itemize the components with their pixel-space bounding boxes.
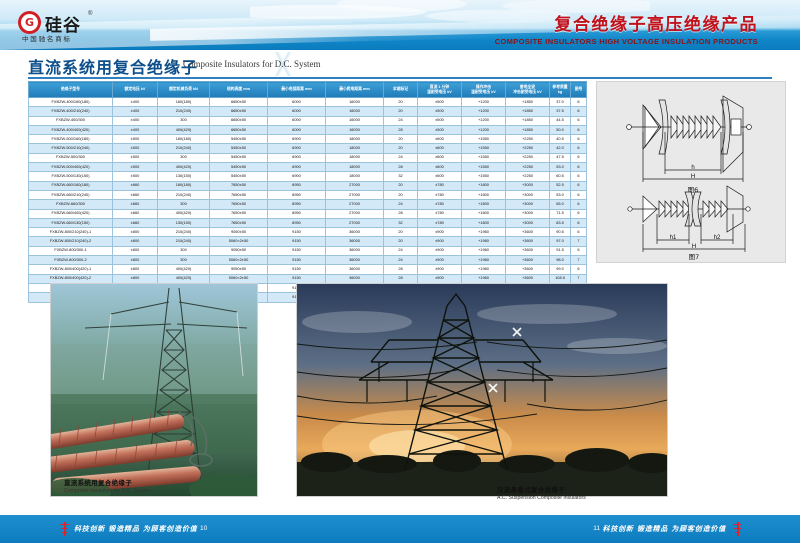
spec-table-wrapper: 绝缘子型号额定电压 kV额定机械负荷 kN结构高度 mm最小电弧距离 mm最小爬… <box>28 81 586 303</box>
cell-value: +1200 <box>462 98 506 107</box>
table-row: FXBZW-500/130(150)±500130(150)5450±50690… <box>29 172 587 181</box>
cell-value: 6650±50 <box>210 107 268 116</box>
cell-value: 6 <box>571 181 587 190</box>
cell-value: 300 <box>158 256 210 265</box>
photo-dc-caption: 直流系统用复合绝缘子 Composite Insulators for D.C.… <box>64 477 151 494</box>
fig7-dim-h1: h1 <box>670 235 677 241</box>
cell-value: 300 <box>158 200 210 209</box>
cell-value: +1550 <box>462 172 506 181</box>
cell-value: +3000 <box>506 218 550 227</box>
cell-value: 7 <box>571 237 587 246</box>
cell-value: 6 <box>571 135 587 144</box>
fig6-dim-H: H <box>691 174 695 180</box>
cell-value: ±660 <box>113 218 158 227</box>
cell-value: 32 <box>384 172 418 181</box>
cell-value: 210(240) <box>158 107 210 116</box>
table-row: FXBZW-660/130(150)±660130(150)7650±50895… <box>29 218 587 227</box>
cell-value: 6 <box>571 228 587 237</box>
spec-table-header-cell-9: 雷电全波冲击耐受电压 kV <box>506 82 550 98</box>
catalog-page: G 硅谷 ® 中国驰名商标 复合绝缘子高压绝缘产品 COMPOSITE INSU… <box>0 0 800 543</box>
cell-value: 400(420) <box>158 265 210 274</box>
cell-value: 8950 <box>268 218 326 227</box>
cell-value: +1550 <box>462 144 506 153</box>
spec-table-header-cell-5: 最小爬电距离 mm <box>326 82 384 98</box>
cell-value: 7650±50 <box>210 218 268 227</box>
cell-value: 6900 <box>268 135 326 144</box>
logo-emblem-icon: G <box>18 11 41 34</box>
cell-value: 16000 <box>326 98 384 107</box>
cell-value: 44.5 <box>550 116 571 125</box>
spec-table-head: 绝缘子型号额定电压 kV额定机械负荷 kN结构高度 mm最小电弧距离 mm最小爬… <box>29 82 587 98</box>
cell-value: 210(240) <box>158 237 210 246</box>
cell-value: 36000 <box>326 246 384 255</box>
cell-value: 20 <box>384 135 418 144</box>
cell-value: 8950 <box>268 200 326 209</box>
cell-value: 16000 <box>326 116 384 125</box>
cell-value: 300 <box>158 153 210 162</box>
banner-title-en: COMPOSITE INSULATORS HIGH VOLTAGE INSULA… <box>495 37 758 46</box>
table-row: FXBZW-500/160(180)±500160(180)5450±50690… <box>29 135 587 144</box>
cell-model: FXBZW-800/210(240)-1 <box>29 228 113 237</box>
cell-value: 20 <box>384 107 418 116</box>
cell-model: FXBZW-800/210(240)-2 <box>29 237 113 246</box>
cell-value: +1960 <box>462 246 506 255</box>
cell-value: +3600 <box>506 237 550 246</box>
cell-model: FXBZW-400/210(240) <box>29 107 113 116</box>
cell-value: 300 <box>158 116 210 125</box>
fig7-dim-h2: h2 <box>714 235 721 241</box>
photo-ac-svg <box>297 284 667 496</box>
cell-value: +2250 <box>506 163 550 172</box>
table-row: FXBZW-660/400(420)±660400(420)7650±50895… <box>29 209 587 218</box>
cell-value: ±900 <box>418 256 462 265</box>
cell-value: 32 <box>384 218 418 227</box>
cell-value: 9150 <box>268 237 326 246</box>
cell-value: 6 <box>571 209 587 218</box>
cell-value: +2250 <box>506 172 550 181</box>
cell-value: 83.5 <box>550 218 571 227</box>
cell-value: ±900 <box>418 265 462 274</box>
cell-model: FXBZW-660/210(240) <box>29 190 113 199</box>
spec-table: 绝缘子型号额定电压 kV额定机械负荷 kN结构高度 mm最小电弧距离 mm最小爬… <box>28 81 587 303</box>
cell-value: 5060×2±50 <box>210 256 268 265</box>
cell-value: +1200 <box>462 125 506 134</box>
cell-value: 8950 <box>268 209 326 218</box>
cell-model: FXBZW-660/130(150) <box>29 218 113 227</box>
cell-value: +1960 <box>462 256 506 265</box>
cell-value: 6 <box>571 265 587 274</box>
cell-value: 52.5 <box>550 181 571 190</box>
table-row: FXBZW-800/210(240)-2±800210(240)5060×2±5… <box>29 237 587 246</box>
cell-value: 5450±50 <box>210 135 268 144</box>
cell-value: 36000 <box>326 228 384 237</box>
cell-value: 6 <box>571 125 587 134</box>
logo-registered-mark: ® <box>88 11 92 17</box>
footer-page-right: 11 <box>593 525 600 532</box>
cell-value: 6000 <box>268 125 326 134</box>
cell-value: ±800 <box>113 246 158 255</box>
photo-dc-caption-cn: 直流系统用复合绝缘子 <box>64 477 151 487</box>
logo-tagline: 中国驰名商标 <box>22 33 72 43</box>
cell-value: +1800 <box>462 209 506 218</box>
cell-value: +1960 <box>462 237 506 246</box>
fig7-drawing <box>628 186 750 252</box>
cell-value: ±400 <box>113 107 158 116</box>
section-divider <box>28 77 772 79</box>
cell-model: FXBZW-500/130(150) <box>29 172 113 181</box>
photo-ac-caption-en: A.C. Suspension Composite Insulators <box>497 495 586 501</box>
cell-value: 28 <box>384 209 418 218</box>
cell-value: 6 <box>571 163 587 172</box>
cell-value: 90.5 <box>550 228 571 237</box>
spec-table-header-cell-1: 额定电压 kV <box>113 82 158 98</box>
cell-value: ±500 <box>113 172 158 181</box>
cell-value: 6 <box>571 172 587 181</box>
cell-value: 6 <box>571 98 587 107</box>
footer-slogan-right: 科技创新 锻造精品 为顾客创造价值 <box>603 524 726 534</box>
cell-value: ±660 <box>113 209 158 218</box>
cell-value: 160(180) <box>158 181 210 190</box>
cell-value: +1200 <box>462 116 506 125</box>
cell-value: ±660 <box>113 181 158 190</box>
cell-value: ±500 <box>113 135 158 144</box>
cell-value: 6650±50 <box>210 98 268 107</box>
table-row: FXBZW-500/400(420)±500400(420)5450±50690… <box>29 163 587 172</box>
fig7-dim-H: H <box>692 244 696 250</box>
cell-value: +3600 <box>506 246 550 255</box>
cell-value: +1850 <box>506 98 550 107</box>
cell-value: 6 <box>571 246 587 255</box>
cell-value: +1800 <box>462 200 506 209</box>
cell-value: ±400 <box>113 116 158 125</box>
cell-value: +1960 <box>462 265 506 274</box>
section-title-en: Composite Insulators for D.C. System <box>183 59 321 69</box>
cell-value: 28 <box>384 265 418 274</box>
spec-table-header-cell-0: 绝缘子型号 <box>29 82 113 98</box>
banner-title-cn: 复合绝缘子高压绝缘产品 <box>495 10 758 35</box>
cell-value: 6650±50 <box>210 125 268 134</box>
cell-value: 130(150) <box>158 218 210 227</box>
cell-model: FXBZW-400/400(420) <box>29 125 113 134</box>
cell-model: FXBZW-800/300-1 <box>29 246 113 255</box>
cell-value: 7650±50 <box>210 200 268 209</box>
table-row: FXBZW-800/210(240)-1±800210(240)9050±509… <box>29 228 587 237</box>
cell-value: ±500 <box>418 125 462 134</box>
cell-value: ±800 <box>113 265 158 274</box>
cell-value: 28 <box>384 163 418 172</box>
insulator-drawings-svg: h H 图6 <box>597 82 785 262</box>
cell-value: ±500 <box>418 116 462 125</box>
cell-model: FXBZW-500/160(180) <box>29 135 113 144</box>
cell-value: ±800 <box>113 256 158 265</box>
cell-value: 27000 <box>326 181 384 190</box>
cell-value: 9050±50 <box>210 228 268 237</box>
photo-dc-svg <box>51 284 257 496</box>
cell-value: +3600 <box>506 228 550 237</box>
cell-value: +1550 <box>462 135 506 144</box>
cell-value: 16000 <box>326 107 384 116</box>
table-row: FXBZW-400/210(240)±400210(240)6650±50600… <box>29 107 587 116</box>
cell-model: FXBZW-660/160(180) <box>29 181 113 190</box>
cell-value: +2250 <box>506 135 550 144</box>
company-logo: G 硅谷 ® 中国驰名商标 <box>18 9 118 43</box>
cell-value: ±900 <box>418 237 462 246</box>
cell-value: 36000 <box>326 265 384 274</box>
cell-value: 37.0 <box>550 98 571 107</box>
cell-value: 27000 <box>326 200 384 209</box>
spec-table-header-cell-4: 最小电弧距离 mm <box>268 82 326 98</box>
table-row: FXBZW-660/160(180)±660160(180)7650±50895… <box>29 181 587 190</box>
cell-value: 7650±50 <box>210 209 268 218</box>
table-row: FXBZW-660/300±6603007650±5089502700024±7… <box>29 200 587 209</box>
footer-mark-left-icon <box>60 522 69 536</box>
page-header-banner: G 硅谷 ® 中国驰名商标 复合绝缘子高压绝缘产品 COMPOSITE INSU… <box>0 0 800 50</box>
cell-value: 210(240) <box>158 190 210 199</box>
cell-value: 20 <box>384 190 418 199</box>
cell-value: 9050±50 <box>210 246 268 255</box>
cell-value: 6 <box>571 116 587 125</box>
cell-value: 18000 <box>326 135 384 144</box>
spec-table-header-cell-6: 伞裙标记 <box>384 82 418 98</box>
cell-value: 210(240) <box>158 144 210 153</box>
spec-table-header-cell-2: 额定机械负荷 kN <box>158 82 210 98</box>
cell-value: 6650±50 <box>210 116 268 125</box>
cell-value: 6 <box>571 218 587 227</box>
cell-value: +3600 <box>506 265 550 274</box>
cell-value: 7650±50 <box>210 181 268 190</box>
spec-table-header-cell-10: 参考质量kg <box>550 82 571 98</box>
cell-value: 24 <box>384 256 418 265</box>
cell-value: 6900 <box>268 144 326 153</box>
cell-value: ±500 <box>113 163 158 172</box>
cell-model: FXBZW-660/400(420) <box>29 209 113 218</box>
spec-table-header-cell-3: 结构高度 mm <box>210 82 268 98</box>
cell-value: +1800 <box>462 181 506 190</box>
spec-table-header-cell-11: 图号 <box>571 82 587 98</box>
logo-letter: G <box>24 16 36 29</box>
cell-value: 16000 <box>326 125 384 134</box>
cell-value: 50.0 <box>550 125 571 134</box>
cell-value: 40.5 <box>550 135 571 144</box>
photo-ac-suspension <box>296 283 668 497</box>
banner-title-block: 复合绝缘子高压绝缘产品 COMPOSITE INSULATORS HIGH VO… <box>495 10 758 46</box>
cell-value: ±660 <box>113 190 158 199</box>
cell-model: FXBZW-400/300 <box>29 116 113 125</box>
cell-value: ±400 <box>113 125 158 134</box>
cell-value: ±500 <box>113 144 158 153</box>
cell-value: 18000 <box>326 153 384 162</box>
cell-value: 27000 <box>326 218 384 227</box>
cell-value: 24 <box>384 153 418 162</box>
cell-model: FXBZW-400/160(180) <box>29 98 113 107</box>
cell-value: 47.5 <box>550 153 571 162</box>
page-footer: 科技创新 锻造精品 为顾客创造价值 10 11 科技创新 锻造精品 为顾客创造价… <box>0 515 800 543</box>
cell-value: 400(420) <box>158 163 210 172</box>
cell-value: ±500 <box>418 107 462 116</box>
cell-value: 99.0 <box>550 265 571 274</box>
cell-value: 6000 <box>268 116 326 125</box>
cell-value: ±400 <box>113 98 158 107</box>
table-row: FXBZW-500/210(240)±500210(240)5450±50690… <box>29 144 587 153</box>
cell-value: 20 <box>384 144 418 153</box>
cell-value: +1800 <box>462 218 506 227</box>
fig6-drawing <box>627 96 752 182</box>
table-row: FXBZW-660/210(240)±660210(240)7650±50895… <box>29 190 587 199</box>
cell-value: +3600 <box>506 256 550 265</box>
fig7-caption: 图7 <box>689 253 700 261</box>
cell-value: 37.5 <box>550 107 571 116</box>
cell-value: 160(180) <box>158 98 210 107</box>
footer-page-left: 10 <box>200 525 207 532</box>
table-row: FXBZW-500/300±5003005450±5069001800024±6… <box>29 153 587 162</box>
cell-value: 71.5 <box>550 209 571 218</box>
table-row: FXBZW-800/400(420)-1±800400(420)9050±509… <box>29 265 587 274</box>
cell-value: +3000 <box>506 200 550 209</box>
cell-value: +1550 <box>462 153 506 162</box>
cell-value: +1200 <box>462 107 506 116</box>
cell-value: 6000 <box>268 107 326 116</box>
cell-value: 9150 <box>268 246 326 255</box>
cell-value: +1550 <box>462 163 506 172</box>
cell-value: 210(240) <box>158 228 210 237</box>
cell-value: +1850 <box>506 107 550 116</box>
cell-value: 9150 <box>268 265 326 274</box>
cell-value: 20 <box>384 228 418 237</box>
cell-value: ±600 <box>418 144 462 153</box>
cell-model: FXBZW-500/400(420) <box>29 163 113 172</box>
fig6-dim-h: h <box>691 165 694 171</box>
cell-value: ±500 <box>113 153 158 162</box>
cell-model: FXBZW-800/300-2 <box>29 256 113 265</box>
table-row: FXBZW-800/300-1±8003009050±5091503600024… <box>29 246 587 255</box>
cell-value: 5450±50 <box>210 144 268 153</box>
table-row: FXBZW-400/160(180)±400160(180)6650±50600… <box>29 98 587 107</box>
cell-value: 9150 <box>268 228 326 237</box>
cell-value: ±600 <box>418 172 462 181</box>
cell-value: 8950 <box>268 181 326 190</box>
cell-value: ±780 <box>418 181 462 190</box>
cell-value: 65.0 <box>550 200 571 209</box>
cell-value: 36000 <box>326 256 384 265</box>
cell-value: 60.5 <box>550 172 571 181</box>
cell-value: 130(150) <box>158 172 210 181</box>
photo-dc-caption-en: Composite Insulators for D.C. System <box>64 488 151 494</box>
cell-value: 5450±50 <box>210 163 268 172</box>
technical-drawing-panel: h H 图6 <box>596 81 786 263</box>
cell-value: 53.0 <box>550 190 571 199</box>
spec-table-body: FXBZW-400/160(180)±400160(180)6650±50600… <box>29 98 587 303</box>
table-row: FXBZW-400/400(420)±400400(420)6650±50600… <box>29 125 587 134</box>
cell-value: 20 <box>384 98 418 107</box>
cell-value: 42.0 <box>550 144 571 153</box>
cell-value: 24 <box>384 116 418 125</box>
cell-value: ±800 <box>113 228 158 237</box>
footer-slogan-left: 科技创新 锻造精品 为顾客创造价值 <box>74 524 197 534</box>
cell-value: 7 <box>571 256 587 265</box>
cell-value: 400(420) <box>158 125 210 134</box>
cell-value: 27000 <box>326 190 384 199</box>
cell-value: 5450±50 <box>210 153 268 162</box>
cell-value: 24 <box>384 246 418 255</box>
cell-value: 18000 <box>326 163 384 172</box>
cell-value: 6 <box>571 107 587 116</box>
photo-ac-caption: 交流悬垂式复合绝缘子 A.C. Suspension Composite Ins… <box>497 484 586 501</box>
section-title-cn: 直流系统用复合绝缘子 <box>28 54 198 78</box>
cell-value: 400(420) <box>158 209 210 218</box>
cell-value: 6 <box>571 153 587 162</box>
cell-value: 18000 <box>326 144 384 153</box>
cell-value: 160(180) <box>158 135 210 144</box>
cell-value: ±780 <box>418 209 462 218</box>
cell-value: +1800 <box>462 190 506 199</box>
spec-table-header-cell-7: 直流 1 分钟湿耐受电压 kV <box>418 82 462 98</box>
cell-value: 6900 <box>268 163 326 172</box>
cell-model: FXBZW-660/300 <box>29 200 113 209</box>
cell-value: ±900 <box>418 246 462 255</box>
cell-value: +3000 <box>506 209 550 218</box>
table-row: FXBZW-400/300±4003006650±5060001600024±5… <box>29 116 587 125</box>
cell-value: 300 <box>158 246 210 255</box>
photo-dc-insulators <box>50 283 258 497</box>
cell-value: 24 <box>384 200 418 209</box>
cell-value: 6900 <box>268 153 326 162</box>
cell-value: 6900 <box>268 172 326 181</box>
cell-value: +3000 <box>506 190 550 199</box>
cell-value: ±800 <box>113 237 158 246</box>
cell-value: 28 <box>384 125 418 134</box>
section-heading: 直流系统用复合绝缘子 Composite Insulators for D.C.… <box>28 54 772 80</box>
cell-value: 9050±50 <box>210 265 268 274</box>
cell-value: 53.0 <box>550 163 571 172</box>
cell-value: ±600 <box>418 153 462 162</box>
cell-model: FXBZW-800/400(420)-1 <box>29 265 113 274</box>
cell-value: 97.0 <box>550 237 571 246</box>
cell-value: 20 <box>384 181 418 190</box>
cell-value: 6 <box>571 200 587 209</box>
cell-value: ±600 <box>418 135 462 144</box>
cell-value: 6 <box>571 190 587 199</box>
cell-value: ±780 <box>418 218 462 227</box>
cell-value: 18000 <box>326 172 384 181</box>
table-row: FXBZW-800/300-2±8003005060×2±50915036000… <box>29 256 587 265</box>
cell-value: 27000 <box>326 209 384 218</box>
cell-value: 36000 <box>326 237 384 246</box>
cell-value: 9150 <box>268 256 326 265</box>
cell-value: ±900 <box>418 228 462 237</box>
cell-value: ±780 <box>418 190 462 199</box>
cell-model: FXBZW-500/300 <box>29 153 113 162</box>
cell-value: +2250 <box>506 153 550 162</box>
cell-value: +1850 <box>506 125 550 134</box>
cell-value: +1960 <box>462 228 506 237</box>
cell-value: 20 <box>384 237 418 246</box>
footer-mark-right-icon <box>733 522 742 536</box>
spec-table-header-cell-8: 操作冲击湿耐受电压 kV <box>462 82 506 98</box>
cell-value: 6 <box>571 144 587 153</box>
cell-value: 6000 <box>268 98 326 107</box>
spec-table-header-row: 绝缘子型号额定电压 kV额定机械负荷 kN结构高度 mm最小电弧距离 mm最小爬… <box>29 82 587 98</box>
cell-value: 8950 <box>268 190 326 199</box>
cell-value: ±600 <box>418 163 462 172</box>
cell-value: 98.0 <box>550 256 571 265</box>
photo-ac-caption-cn: 交流悬垂式复合绝缘子 <box>497 484 586 494</box>
cell-value: 7650±50 <box>210 190 268 199</box>
cell-value: +1850 <box>506 116 550 125</box>
cell-value: 5060×2±50 <box>210 237 268 246</box>
cell-value: ±500 <box>418 98 462 107</box>
cell-value: 91.5 <box>550 246 571 255</box>
cell-value: +3000 <box>506 181 550 190</box>
